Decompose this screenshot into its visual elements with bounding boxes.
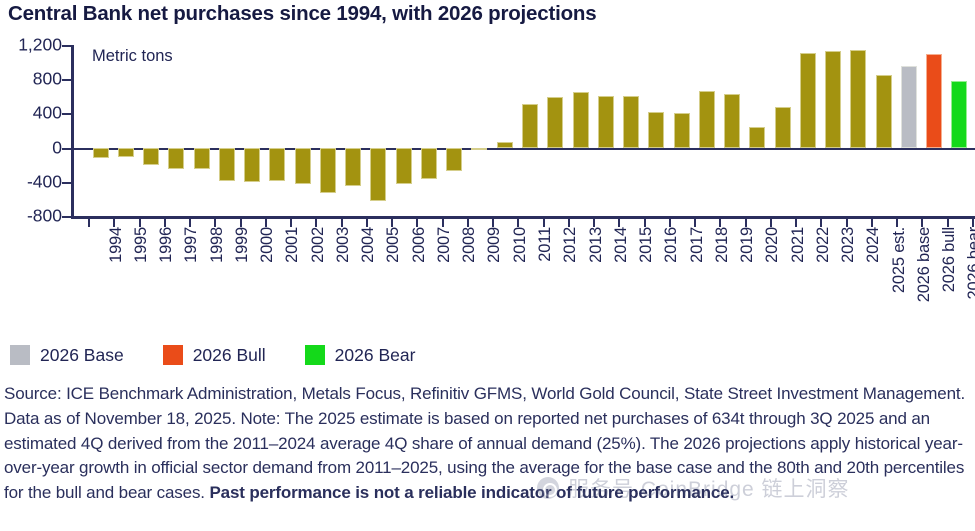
x-axis-tick-label: 2007 [435,227,454,263]
y-axis-tick [62,182,71,184]
x-axis-tick-label: 2002 [309,227,328,263]
bar [674,113,690,147]
chart-container: 1,2008004000-400-800 Metric tons 1994199… [0,45,975,335]
x-axis-tick-label: 1998 [208,227,227,263]
plot-area [71,45,975,218]
legend-swatch [163,345,183,365]
y-axis-tick [62,79,71,81]
footnote-disclaimer: Past performance is not a reliable indic… [209,483,734,502]
x-axis-tick-label: 2019 [738,227,757,263]
x-axis-tick [846,219,848,227]
x-axis-tick [139,219,141,227]
x-axis-tick-label: 2001 [283,227,302,263]
x-axis-tick-label: 2024 [864,227,883,263]
x-axis-tick-label: 2012 [561,227,580,263]
legend-label: 2026 Bear [335,345,416,366]
bar [421,148,437,180]
bar [118,148,134,157]
x-axis-tick [694,219,696,227]
x-axis-tick [164,219,166,227]
x-axis-tick-label: 2014 [612,227,631,263]
bar [244,148,260,183]
legend-label: 2026 Bull [193,345,266,366]
bar [471,148,487,150]
x-axis-tick-label: 2021 [789,227,808,263]
bar [295,148,311,184]
x-axis-tick-label: 2003 [334,227,353,263]
bar [800,53,816,148]
page-title: Central Bank net purchases since 1994, w… [8,2,968,26]
x-axis-line [71,216,975,219]
bar [370,148,386,201]
x-axis-tick-label: 2020 [763,227,782,263]
bar [522,104,538,147]
bar [93,148,109,158]
x-axis-tick [189,219,191,227]
chart-legend: 2026 Base2026 Bull2026 Bear [10,342,454,368]
x-axis-tick [770,219,772,227]
x-axis-tick [214,219,216,227]
y-axis-tick-label: -800 [0,206,62,227]
bar [269,148,285,182]
y-axis-tick [62,45,71,47]
x-axis-tick [719,219,721,227]
y-axis-tick-label: 400 [0,103,62,124]
x-axis-tick [568,219,570,227]
legend-label: 2026 Base [40,345,124,366]
bar [168,148,184,169]
bar [775,107,791,147]
x-axis-tick [896,219,898,227]
y-axis-tick-label: 0 [0,137,62,158]
bar [724,94,740,148]
x-axis-tick [492,219,494,227]
y-axis-tick-label: 800 [0,69,62,90]
x-axis-tick-label: 2008 [460,227,479,263]
x-axis-tick-label: 2026 base [915,227,934,302]
x-axis-tick-label: 2005 [384,227,403,263]
bar [951,81,967,148]
x-axis-tick [113,219,115,227]
x-axis-tick [416,219,418,227]
bar [825,51,841,147]
x-axis-tick-label: 1995 [132,227,151,263]
x-axis-tick-label: 2025 est. [890,227,909,293]
x-axis-tick-label: 2018 [713,227,732,263]
legend-swatch [305,345,325,365]
bar [850,50,866,147]
x-axis-tick-label: 2011 [536,227,555,262]
x-axis-tick-label: 1994 [107,227,126,263]
x-axis-tick-label: 2016 [662,227,681,263]
y-axis-tick [62,148,71,150]
x-axis-tick [947,219,949,227]
x-axis-tick [467,219,469,227]
footnote: Source: ICE Benchmark Administration, Me… [4,382,972,506]
x-axis-tick [265,219,267,227]
x-axis-tick [366,219,368,227]
x-axis-tick [795,219,797,227]
x-axis-tick-label: 2006 [410,227,429,263]
x-axis-tick-label: 2026 bear [965,227,975,300]
legend-item: 2026 Bull [163,345,266,366]
x-axis-tick [618,219,620,227]
x-axis-tick [240,219,242,227]
bar [749,127,765,148]
x-axis-tick [820,219,822,227]
x-axis-tick-label: 1997 [182,227,201,263]
bar [143,148,159,166]
x-axis-tick-label: 1996 [157,227,176,263]
bar [573,92,589,148]
x-axis-tick [871,219,873,227]
bar [396,148,412,184]
y-axis-tick-label: -400 [0,171,62,192]
x-axis-tick [745,219,747,227]
x-axis-tick [341,219,343,227]
bar [497,142,513,148]
bar [699,91,715,148]
y-axis-line [71,45,74,218]
bar [623,96,639,148]
x-axis-tick [391,219,393,227]
x-axis-tick [921,219,923,227]
x-axis-tick [669,219,671,227]
x-axis-tick-label: 1999 [233,227,252,263]
x-axis-tick [315,219,317,227]
x-axis-tick-label: 2010 [511,227,530,263]
bar [446,148,462,171]
bar [194,148,210,169]
y-axis-labels: 1,2008004000-400-800 [0,45,62,225]
x-axis-tick-label: 2023 [839,227,858,263]
x-axis-tick-label: 2000 [258,227,277,263]
y-axis-tick [62,216,71,218]
x-axis-tick [88,219,90,227]
x-axis-tick-label: 2015 [637,227,656,263]
chart-page: Central Bank net purchases since 1994, w… [0,0,975,531]
y-axis-tick [62,113,71,115]
bar [926,54,942,147]
y-axis-tick-label: 1,200 [0,35,62,56]
bar [876,75,892,147]
x-axis-tick-label: 2026 bull [940,227,959,292]
legend-item: 2026 Base [10,345,124,366]
x-axis-tick-label: 2013 [587,227,606,263]
bar [219,148,235,181]
bar [320,148,336,193]
x-axis-tick-label: 2017 [688,227,707,263]
x-axis-labels: 1994199519961997199819992000200120022003… [71,227,975,335]
x-axis-tick [517,219,519,227]
legend-item: 2026 Bear [305,345,416,366]
bar [547,97,563,148]
x-axis-tick [644,219,646,227]
x-axis-tick [290,219,292,227]
legend-swatch [10,345,30,365]
x-axis-tick-label: 2004 [359,227,378,263]
bar [648,112,664,147]
bar [598,96,614,147]
x-axis-tick-label: 2009 [485,227,504,263]
bar [345,148,361,186]
x-axis-tick-label: 2022 [814,227,833,263]
bar [901,66,917,148]
x-axis-tick [593,219,595,227]
x-axis-tick [442,219,444,227]
